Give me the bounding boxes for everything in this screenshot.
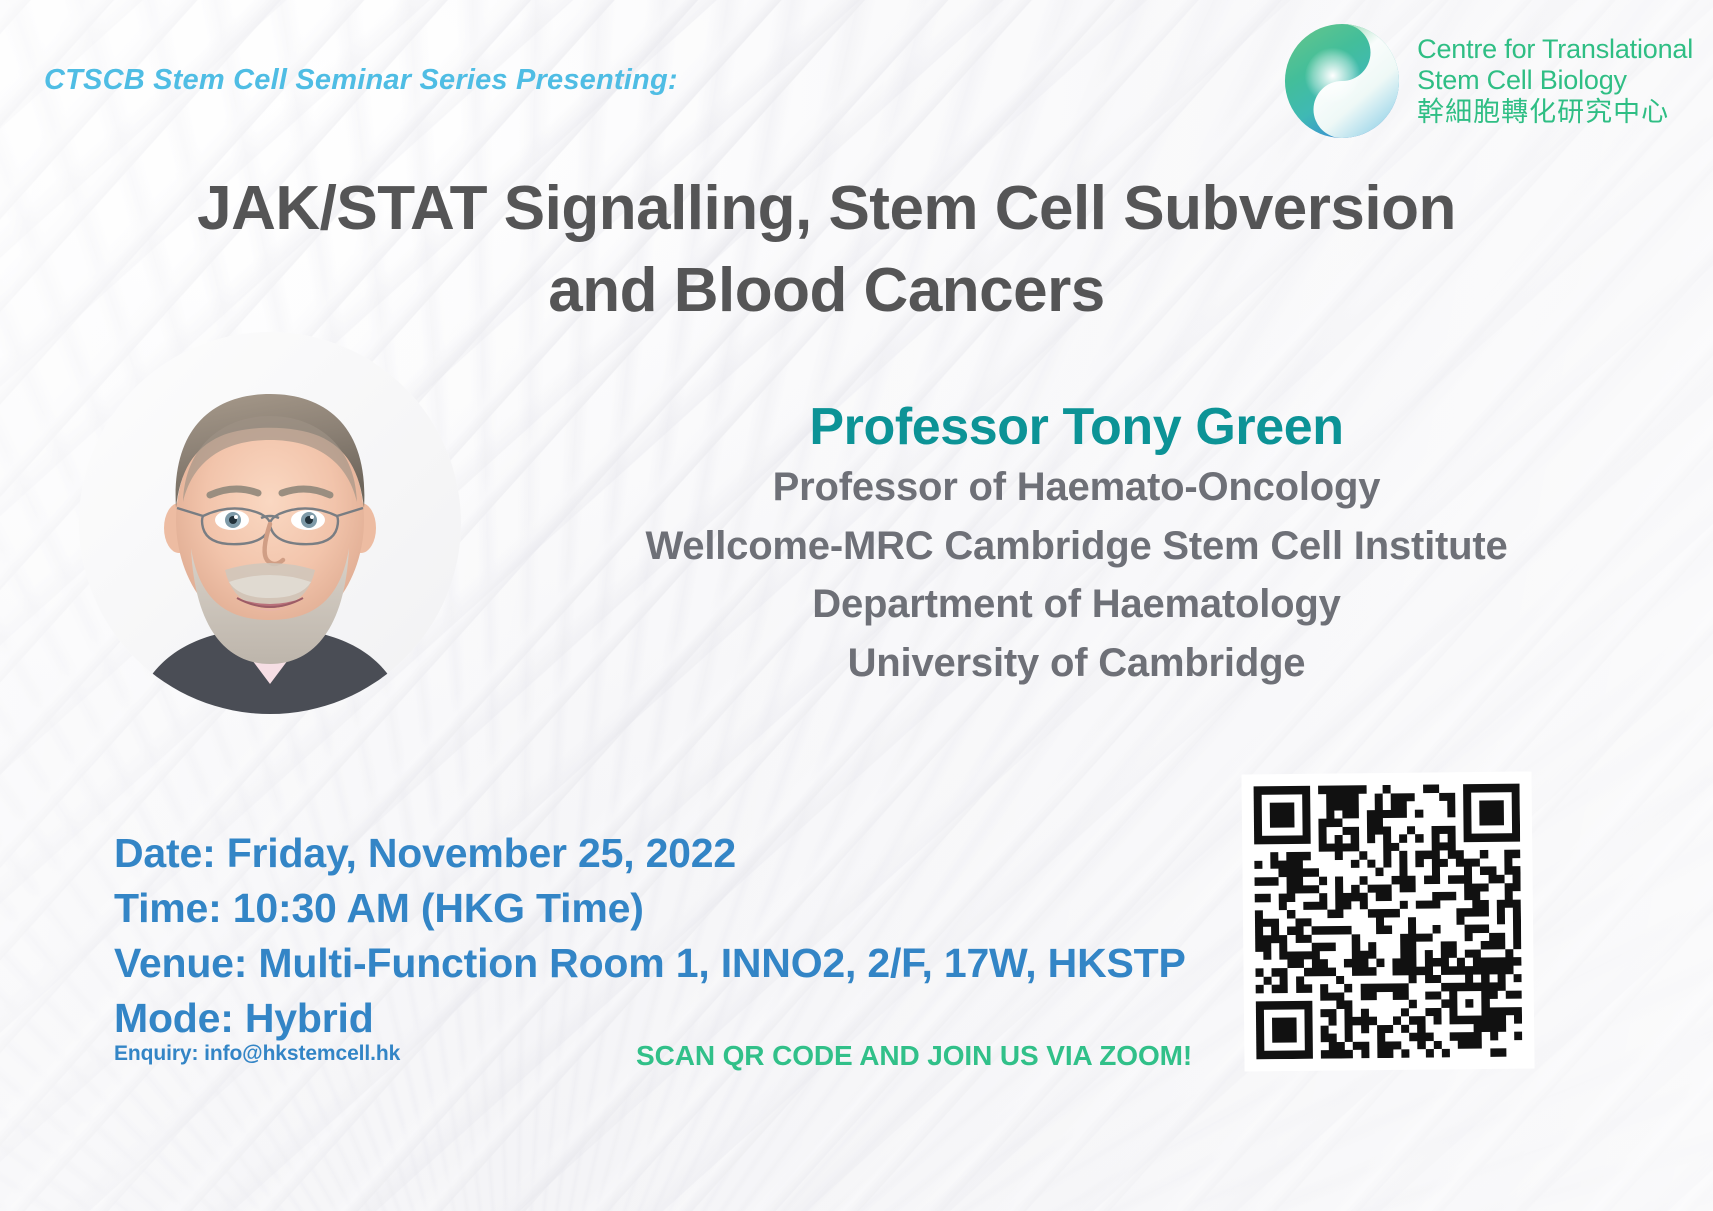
speaker-portrait-image xyxy=(79,332,461,714)
seminar-title: JAK/STAT Signalling, Stem Cell Subversio… xyxy=(60,168,1593,332)
event-detail-venue: Venue: Multi-Function Room 1, INNO2, 2/F… xyxy=(114,936,1186,991)
event-detail-date: Date: Friday, November 25, 2022 xyxy=(114,826,1186,881)
title-line-2: and Blood Cancers xyxy=(60,250,1593,332)
seminar-poster: CTSCB Stem Cell Seminar Series Presentin… xyxy=(0,0,1713,1211)
speaker-affiliation-2: Wellcome-MRC Cambridge Stem Cell Institu… xyxy=(500,517,1653,576)
ctscb-logo-text: Centre for Translational Stem Cell Biolo… xyxy=(1417,34,1693,127)
enquiry-email[interactable]: Enquiry: info@hkstemcell.hk xyxy=(114,1042,400,1066)
ctscb-logo-mark-icon xyxy=(1283,22,1401,140)
speaker-affiliation-1: Professor of Haemato-Oncology xyxy=(500,458,1653,517)
logo-line-2: Stem Cell Biology xyxy=(1417,65,1693,96)
speaker-info: Professor Tony Green Professor of Haemat… xyxy=(500,398,1653,693)
logo-line-1: Centre for Translational xyxy=(1417,34,1693,65)
speaker-affiliation-4: University of Cambridge xyxy=(500,634,1653,693)
logo-line-cn: 幹細胞轉化研究中心 xyxy=(1417,97,1693,128)
speaker-name: Professor Tony Green xyxy=(500,398,1653,458)
series-presenting-label: CTSCB Stem Cell Seminar Series Presentin… xyxy=(44,64,678,97)
title-line-1: JAK/STAT Signalling, Stem Cell Subversio… xyxy=(60,168,1593,250)
scan-qr-cta-text: SCAN QR CODE AND JOIN US VIA ZOOM! xyxy=(636,1040,1192,1072)
ctscb-logo: Centre for Translational Stem Cell Biolo… xyxy=(1283,22,1693,140)
speaker-affiliation-3: Department of Haematology xyxy=(500,575,1653,634)
event-details: Date: Friday, November 25, 2022 Time: 10… xyxy=(114,826,1186,1046)
zoom-join-qr-code[interactable] xyxy=(1241,771,1534,1071)
qr-code-image xyxy=(1254,784,1523,1060)
speaker-portrait xyxy=(79,332,461,714)
event-detail-mode: Mode: Hybrid xyxy=(114,991,1186,1046)
event-detail-time: Time: 10:30 AM (HKG Time) xyxy=(114,881,1186,936)
